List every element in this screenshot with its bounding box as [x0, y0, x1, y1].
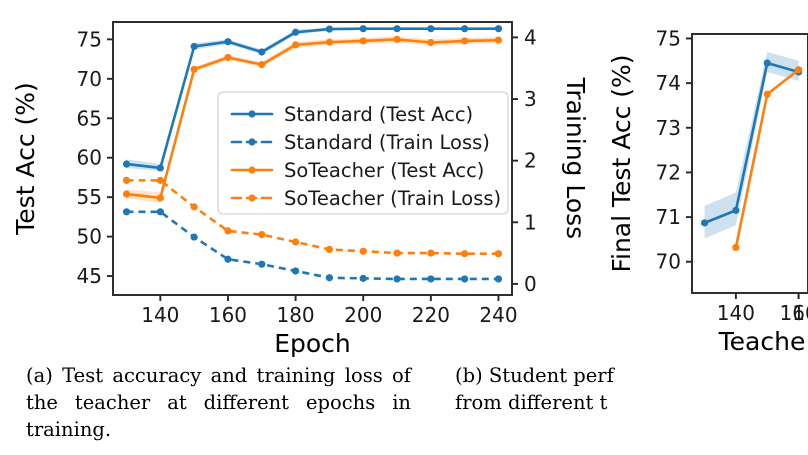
legend-label-3: SoTeacher (Train Loss): [284, 187, 501, 210]
y2-tick-label-4: 4: [524, 25, 537, 49]
data-point-1-7: [360, 37, 367, 44]
x-axis-label: Teache: [718, 327, 806, 356]
y-tick-label-70: 70: [656, 250, 681, 274]
data-point-0-6: [326, 26, 333, 33]
data-point-0-0: [123, 160, 130, 167]
data-point-0-1: [732, 207, 739, 214]
panel-b-chart: 7071727374751401601Final Test Acc (%)Tea…: [600, 0, 808, 350]
y2-tick-label-3: 3: [524, 87, 537, 111]
data-point-2-3: [224, 256, 231, 263]
data-point-1-5: [292, 41, 299, 48]
y-tick-label-60: 60: [77, 146, 102, 170]
data-point-1-1: [157, 194, 164, 201]
data-point-0-3: [224, 38, 231, 45]
data-point-0-0: [701, 219, 708, 226]
y-tick-label-55: 55: [77, 185, 102, 209]
y2-tick-label-2: 2: [524, 149, 537, 173]
data-point-1-3: [795, 66, 802, 73]
data-point-0-4: [258, 48, 265, 55]
data-point-0-11: [495, 25, 502, 32]
caption-panel-b-line1: (b) Student perf: [455, 363, 808, 390]
data-point-3-5: [292, 238, 299, 245]
y2-tick-label-1: 1: [524, 210, 537, 234]
data-point-1-1: [732, 244, 739, 251]
data-point-1-2: [191, 66, 198, 73]
data-point-2-5: [292, 267, 299, 274]
y-tick-label-75: 75: [77, 27, 102, 51]
legend-sample-marker-1: [248, 138, 255, 145]
legend-label-1: Standard (Train Loss): [284, 131, 490, 154]
data-point-0-9: [427, 25, 434, 32]
data-point-1-10: [461, 37, 468, 44]
y-axis-label: Test Acc (%): [11, 82, 40, 236]
caption-panel-a: (a) Test accuracy and training loss of t…: [26, 363, 411, 444]
y-tick-label-45: 45: [77, 264, 102, 288]
data-point-2-10: [461, 275, 468, 282]
data-point-1-4: [258, 61, 265, 68]
data-point-1-6: [326, 39, 333, 46]
caption-panel-b: (b) Student perf from different t: [455, 363, 808, 417]
x-tick-label-160: 160: [209, 303, 247, 327]
legend-label-0: Standard (Test Acc): [284, 103, 473, 126]
y-tick-label-50: 50: [77, 225, 102, 249]
y2-axis-label: Training Loss: [561, 77, 590, 239]
x-axis-label: Epoch: [274, 329, 351, 358]
data-point-1-2: [764, 91, 771, 98]
data-point-1-8: [393, 36, 400, 43]
data-point-3-0: [123, 177, 130, 184]
data-point-3-8: [393, 249, 400, 256]
data-point-2-7: [360, 275, 367, 282]
data-point-3-3: [224, 227, 231, 234]
y-axis-label: Final Test Acc (%): [607, 54, 636, 272]
data-point-3-10: [461, 250, 468, 257]
x-tick-label-180: 180: [276, 303, 314, 327]
x-tick-label-140: 140: [717, 301, 755, 325]
data-point-1-3: [224, 54, 231, 61]
data-point-3-11: [495, 250, 502, 257]
data-point-2-0: [123, 208, 130, 215]
y-tick-label-72: 72: [656, 160, 681, 184]
y-tick-label-65: 65: [77, 106, 102, 130]
data-point-0-2: [764, 59, 771, 66]
legend-sample-marker-2: [248, 166, 255, 173]
y2-tick-label-0: 0: [524, 272, 537, 296]
data-point-2-11: [495, 275, 502, 282]
data-point-1-9: [427, 39, 434, 46]
y-tick-label-71: 71: [656, 205, 681, 229]
y-tick-label-75: 75: [656, 26, 681, 50]
data-point-2-8: [393, 275, 400, 282]
data-point-0-2: [191, 43, 198, 50]
x-tick-label-240: 240: [479, 303, 517, 327]
data-point-0-5: [292, 29, 299, 36]
x-tick-label-220: 220: [412, 303, 450, 327]
data-point-2-1: [157, 208, 164, 215]
data-point-3-1: [157, 177, 164, 184]
data-point-2-4: [258, 261, 265, 268]
data-point-3-2: [191, 203, 198, 210]
data-point-0-10: [461, 25, 468, 32]
y-tick-label-73: 73: [656, 116, 681, 140]
legend-sample-marker-0: [248, 110, 255, 117]
data-point-2-2: [191, 233, 198, 240]
data-point-0-7: [360, 25, 367, 32]
data-point-3-7: [360, 248, 367, 255]
caption-panel-b-line2: from different t: [455, 390, 808, 417]
panel-a-chart: 4550556065707501234140160180200220240Tes…: [0, 0, 540, 350]
y-tick-label-70: 70: [77, 67, 102, 91]
x-tick-label-200: 200: [344, 303, 382, 327]
data-point-0-8: [393, 25, 400, 32]
figure-container: 4550556065707501234140160180200220240Tes…: [0, 0, 808, 455]
x-tick-label-160: 1: [792, 301, 805, 325]
panel-a-svg: 4550556065707501234140160180200220240Tes…: [0, 0, 540, 350]
legend-label-2: SoTeacher (Test Acc): [284, 159, 484, 182]
data-point-1-11: [495, 37, 502, 44]
data-point-3-4: [258, 231, 265, 238]
data-point-0-1: [157, 164, 164, 171]
panel-b-svg: 7071727374751401601Final Test Acc (%)Tea…: [600, 0, 808, 350]
y-tick-label-74: 74: [656, 71, 681, 95]
data-point-2-6: [326, 274, 333, 281]
data-point-1-0: [123, 190, 130, 197]
legend-sample-marker-3: [248, 194, 255, 201]
legend: Standard (Test Acc)Standard (Train Loss)…: [218, 92, 508, 214]
data-point-3-6: [326, 246, 333, 253]
data-point-3-9: [427, 249, 434, 256]
x-tick-label-140: 140: [141, 303, 179, 327]
data-point-2-9: [427, 275, 434, 282]
